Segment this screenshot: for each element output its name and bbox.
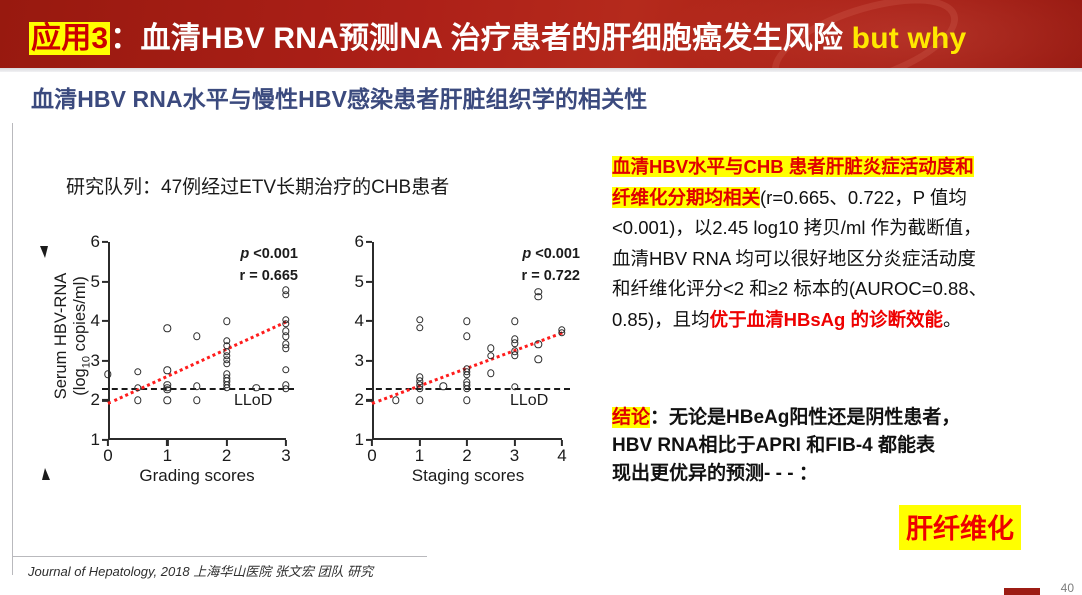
y-tick-label: 4	[344, 311, 364, 331]
chart-staging-pvalue: p <0.001	[522, 246, 580, 262]
y-tick-label: 6	[344, 232, 364, 252]
y-tick-mark	[102, 241, 108, 243]
chart-staging-xlabel: Staging scores	[412, 466, 524, 486]
y-tick-label: 3	[344, 351, 364, 371]
conclusion-line1-rest: ：无论是HBeAg阳性还是阴性患者，	[650, 407, 960, 428]
page-number: 40	[1061, 581, 1074, 595]
x-tick-mark	[466, 440, 468, 446]
y-tick-label: 2	[80, 390, 100, 410]
page-title: 应用3：血清HBV RNA预测NA 治疗患者的肝细胞癌发生风险 but why	[29, 13, 966, 57]
findings-paragraph: 血清HBV水平与CHB 患者肝脏炎症活动度和 纤维化分期均相关(r=0.665、…	[612, 152, 1052, 335]
x-tick-label: 3	[275, 446, 297, 466]
chart-grading-xlabel: Grading scores	[139, 466, 254, 486]
x-tick-label: 3	[504, 446, 526, 466]
y-tick-label: 5	[80, 272, 100, 292]
chart-staging-rvalue: r = 0.722	[522, 268, 580, 284]
section-subtitle: 血清HBV RNA水平与慢性HBV感染患者肝脏组织学的相关性	[31, 80, 647, 114]
source-citation: Journal of Hepatology, 2018 上海华山医院 张文宏 团…	[28, 561, 373, 580]
chart-grading-pvalue: p <0.001	[240, 246, 298, 262]
findings-panel: 血清HBV水平与CHB 患者肝脏炎症活动度和 纤维化分期均相关(r=0.665、…	[612, 152, 1052, 335]
x-tick-label: 1	[156, 446, 178, 466]
x-tick-mark	[371, 440, 373, 446]
conclusion-panel: 结论：无论是HBeAg阳性还是阴性患者， HBV RNA相比于APRI 和FIB…	[612, 404, 1062, 488]
findings-line3: <0.001)，以2.45 log10 拷贝/ml 作为截断值，	[612, 213, 1052, 244]
header-title-main: ：血清HBV RNA预测NA 治疗患者的肝细胞癌发生风险	[110, 22, 843, 55]
y-tick-mark	[366, 241, 372, 243]
y-tick-mark	[366, 281, 372, 283]
chart-grading-scores: Serum HBV-RNA(log10 copies/ml) 123456012…	[34, 228, 316, 494]
cohort-description: 研究队列：47例经过ETV长期治疗的CHB患者	[66, 172, 449, 199]
crop-mark-top-icon	[40, 246, 48, 258]
y-tick-label: 5	[344, 272, 364, 292]
header-badge: 应用3	[29, 22, 110, 55]
data-point	[558, 329, 565, 336]
header-band: 应用3：血清HBV RNA预测NA 治疗患者的肝细胞癌发生风险 but why	[0, 0, 1082, 68]
conclusion-line2: HBV RNA相比于APRI 和FIB-4 都能表	[612, 432, 1062, 460]
chart-grading-rvalue: r = 0.665	[240, 268, 298, 284]
x-tick-mark	[226, 440, 228, 446]
conclusion-line3: 现出更优异的预测- - - ：	[612, 460, 1062, 488]
data-point	[282, 385, 289, 392]
conclusion-label: 结论	[612, 407, 650, 428]
y-tick-label: 6	[80, 232, 100, 252]
x-tick-label: 4	[551, 446, 573, 466]
findings-line2-rest: (r=0.665、0.722，P 值均	[760, 187, 967, 208]
findings-line6-emphasis: 优于血清HBsAg 的诊断效能	[710, 309, 943, 330]
y-tick-label: 4	[80, 311, 100, 331]
x-tick-label: 1	[409, 446, 431, 466]
header-title-tail: but why	[852, 22, 967, 55]
findings-line6-post: 。	[943, 309, 962, 330]
x-tick-mark	[285, 440, 287, 446]
y-tick-label: 2	[344, 390, 364, 410]
x-tick-label: 2	[216, 446, 238, 466]
liver-fibrosis-callout: 肝纤维化	[899, 505, 1021, 550]
findings-line5: 和纤维化评分<2 和≥2 标本的(AUROC=0.88、	[612, 274, 1052, 305]
x-tick-label: 0	[97, 446, 119, 466]
data-point	[282, 344, 289, 351]
footer-divider	[12, 556, 427, 557]
lod-label: LLoD	[510, 392, 548, 410]
x-tick-mark	[561, 440, 563, 446]
x-tick-mark	[513, 440, 515, 446]
crop-mark-bottom-icon	[42, 468, 50, 480]
figure-scatter-pair: Serum HBV-RNA(log10 copies/ml) 123456012…	[34, 228, 594, 494]
data-point	[282, 320, 289, 327]
y-tick-mark	[102, 360, 108, 362]
x-tick-mark	[107, 440, 109, 446]
y-tick-mark	[366, 320, 372, 322]
page-accent-bar	[1004, 588, 1040, 595]
findings-line6-pre: 0.85)，且均	[612, 309, 710, 330]
y-tick-mark	[366, 360, 372, 362]
y-tick-label: 3	[80, 351, 100, 371]
data-point	[282, 291, 289, 298]
chart-staging-scores: 12345601234 LLoD p <0.001 r = 0.722 Stag…	[308, 228, 594, 494]
x-tick-mark	[418, 440, 420, 446]
x-tick-label: 2	[456, 446, 478, 466]
x-tick-mark	[166, 440, 168, 446]
header-divider	[0, 68, 1082, 72]
findings-highlight-line1: 血清HBV水平与CHB 患者肝脏炎症活动度和	[612, 156, 974, 177]
findings-highlight-line2: 纤维化分期均相关	[612, 187, 760, 208]
data-point	[282, 333, 289, 340]
y-tick-mark	[102, 281, 108, 283]
y-tick-mark	[102, 320, 108, 322]
x-tick-label: 0	[361, 446, 383, 466]
findings-line4: 血清HBV RNA 均可以很好地区分炎症活动度	[612, 244, 1052, 275]
slide-root: 应用3：血清HBV RNA预测NA 治疗患者的肝细胞癌发生风险 but why …	[0, 0, 1082, 595]
lod-label: LLoD	[234, 392, 272, 410]
data-point	[282, 366, 289, 373]
